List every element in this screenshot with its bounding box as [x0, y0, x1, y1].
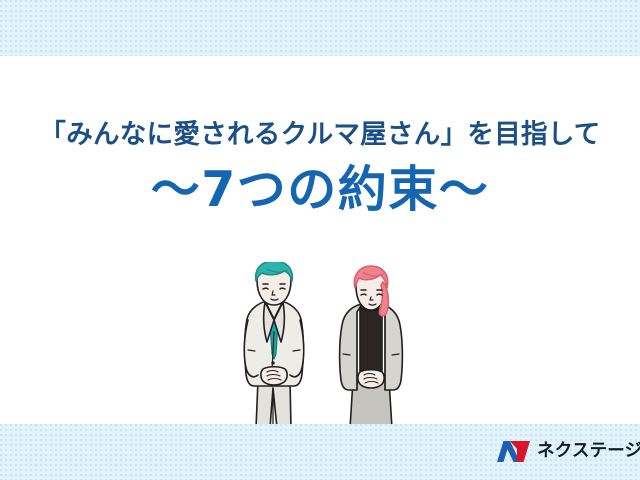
two-staff-bowing-illustration — [236, 262, 424, 430]
male-staff-figure — [244, 262, 303, 428]
headline-line-2: 〜7つの約束〜 — [0, 163, 640, 217]
nexstage-n-mark — [497, 441, 530, 463]
promotional-slide: 「みんなに愛されるクルマ屋さん」を目指して 〜7つの約束〜 — [0, 0, 640, 480]
headline-block: 「みんなに愛されるクルマ屋さん」を目指して 〜7つの約束〜 — [0, 118, 640, 217]
headline-line-1: 「みんなに愛されるクルマ屋さん」を目指して — [0, 118, 640, 151]
top-decorative-band — [0, 0, 640, 56]
nexstage-logo: ネクステージ — [497, 437, 640, 467]
female-staff-figure — [340, 266, 403, 428]
logo-wordmark: ネクステージ — [537, 443, 640, 461]
